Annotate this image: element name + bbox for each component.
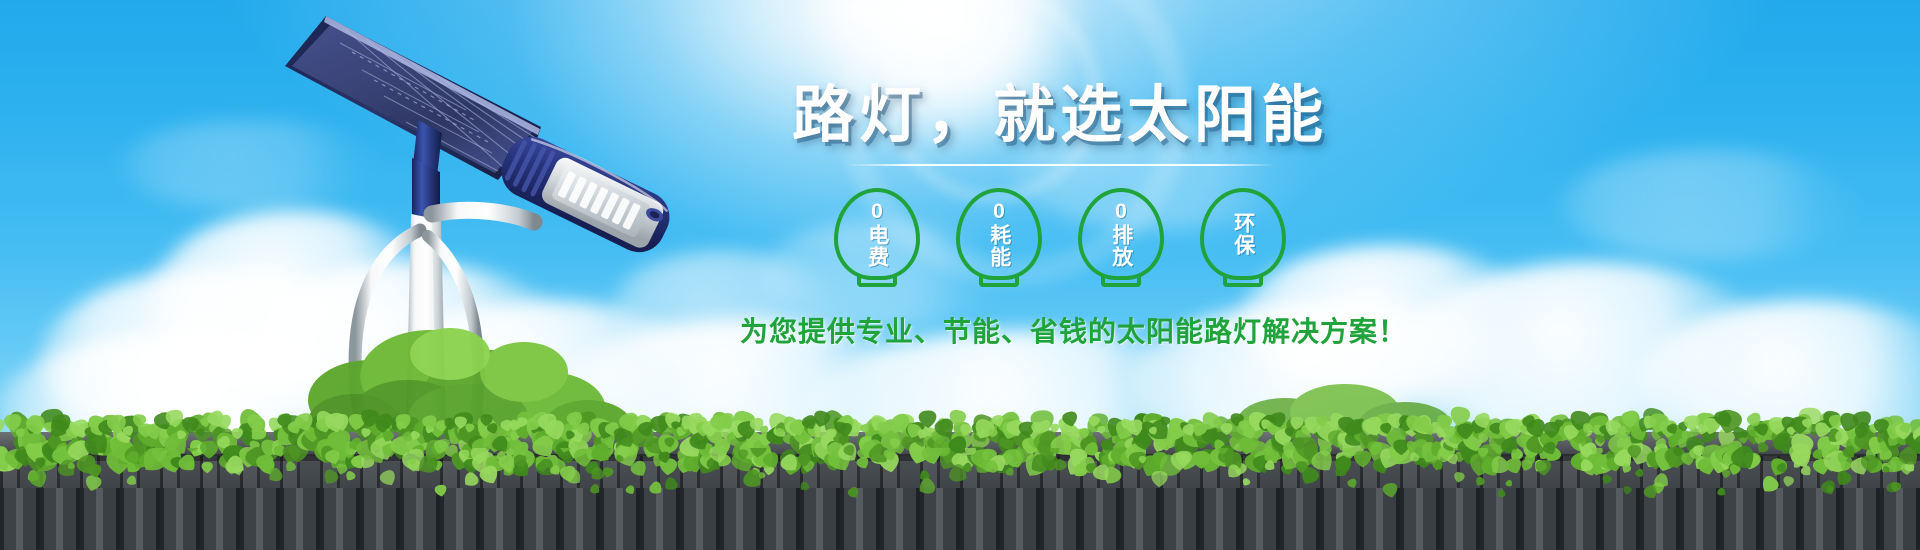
banner-tagline: 为您提供专业、节能、省钱的太阳能路灯解决方案！: [740, 310, 1380, 350]
feature-badge-3-huanbao: 环保: [1200, 188, 1286, 280]
feature-badge-0-dianfei: 0 电费: [834, 188, 920, 280]
badge-word: 电费: [866, 224, 887, 268]
tiled-brick-wall: [0, 432, 1920, 550]
banner-copy: 路灯，就选太阳能 0 电费 0 耗能: [740, 84, 1380, 350]
bulb-base-icon: [1101, 275, 1141, 287]
bulb-base-icon: [979, 275, 1019, 287]
badge-number: 0: [988, 201, 1009, 222]
solar-street-light-banner: 路灯，就选太阳能 0 电费 0 耗能: [0, 0, 1920, 550]
badge-text: 0 耗能: [988, 201, 1009, 267]
badge-text: 0 排放: [1110, 201, 1131, 267]
title-divider: [845, 164, 1275, 166]
badge-word: 环保: [1232, 212, 1253, 256]
badge-text: 0 电费: [866, 201, 887, 267]
badge-word: 耗能: [988, 224, 1009, 268]
badge-number: 0: [866, 201, 887, 222]
page-title: 路灯，就选太阳能: [740, 84, 1380, 148]
badge-text: 环保: [1232, 212, 1253, 256]
bulb-base-icon: [857, 275, 897, 287]
feature-badge-1-haoneng: 0 耗能: [956, 188, 1042, 280]
bulb-base-icon: [1223, 275, 1263, 287]
badge-word: 排放: [1110, 224, 1131, 268]
badge-number: 0: [1110, 201, 1131, 222]
feature-badge-2-paifang: 0 排放: [1078, 188, 1164, 280]
feature-badge-list: 0 电费 0 耗能 0 排放: [740, 188, 1380, 280]
